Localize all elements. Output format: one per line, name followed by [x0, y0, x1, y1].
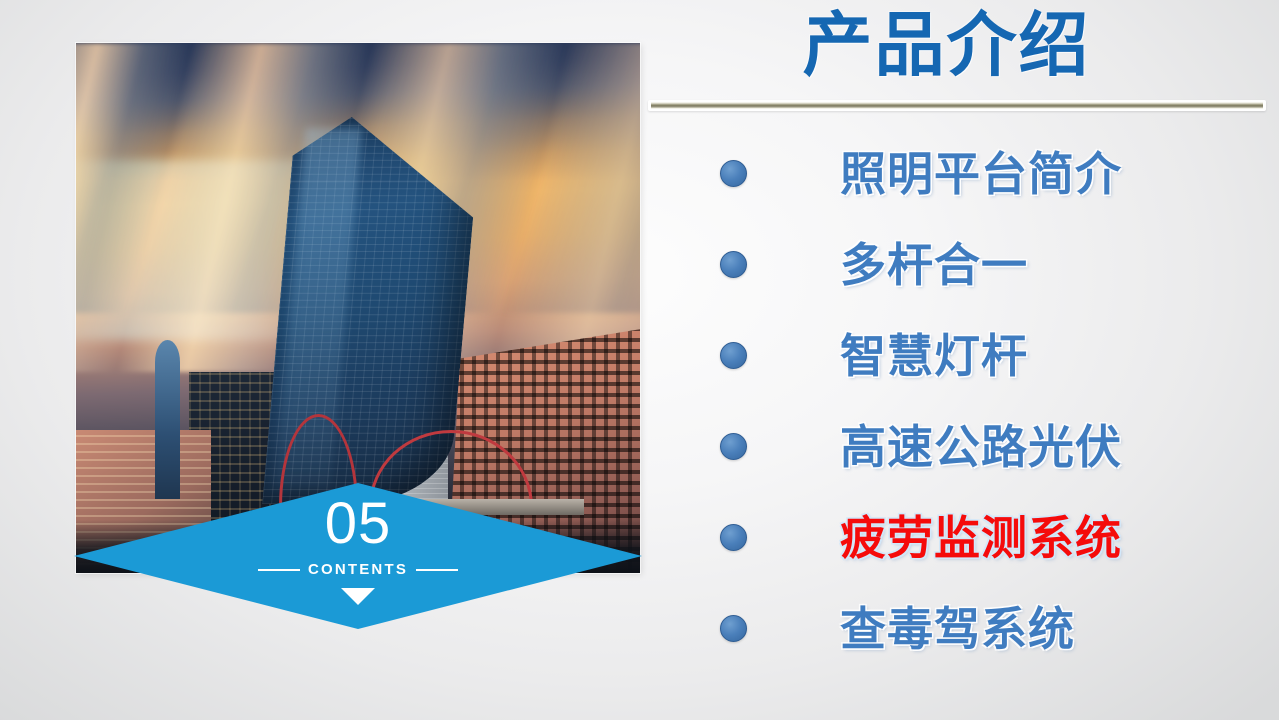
- bullet-dot-icon: [720, 342, 747, 369]
- bullet-dot-icon: [720, 251, 747, 278]
- content-column: 产品介绍 照明平台简介 多杆合一 智慧灯杆 高速公路光伏: [640, 0, 1279, 720]
- list-item[interactable]: 查毒驾系统: [640, 583, 1279, 674]
- list-item-label: 高速公路光伏: [840, 424, 1122, 470]
- list-item[interactable]: 照明平台简介: [640, 128, 1279, 219]
- slide-root: 05 CONTENTS 产品介绍 照明平台简介 多杆合一 智慧灯杆: [0, 0, 1279, 720]
- blue-spire-tower: [155, 340, 180, 499]
- list-item-label: 照明平台简介: [840, 151, 1122, 197]
- list-item-label: 疲劳监测系统: [840, 515, 1122, 561]
- list-item[interactable]: 智慧灯杆: [640, 310, 1279, 401]
- agenda-list: 照明平台简介 多杆合一 智慧灯杆 高速公路光伏 疲劳监测系统 查毒驾系统: [640, 128, 1279, 674]
- list-item[interactable]: 高速公路光伏: [640, 401, 1279, 492]
- list-item[interactable]: 疲劳监测系统: [640, 492, 1279, 583]
- bullet-dot-icon: [720, 160, 747, 187]
- bullet-dot-icon: [720, 433, 747, 460]
- list-item-label: 智慧灯杆: [840, 333, 1028, 379]
- list-item-label: 多杆合一: [840, 242, 1028, 288]
- list-item-label: 查毒驾系统: [840, 606, 1075, 652]
- title-divider: [648, 100, 1266, 111]
- page-title: 产品介绍: [640, 6, 1253, 84]
- bullet-dot-icon: [720, 524, 747, 551]
- list-item[interactable]: 多杆合一: [640, 219, 1279, 310]
- bullet-dot-icon: [720, 615, 747, 642]
- title-divider-bar: [651, 102, 1263, 109]
